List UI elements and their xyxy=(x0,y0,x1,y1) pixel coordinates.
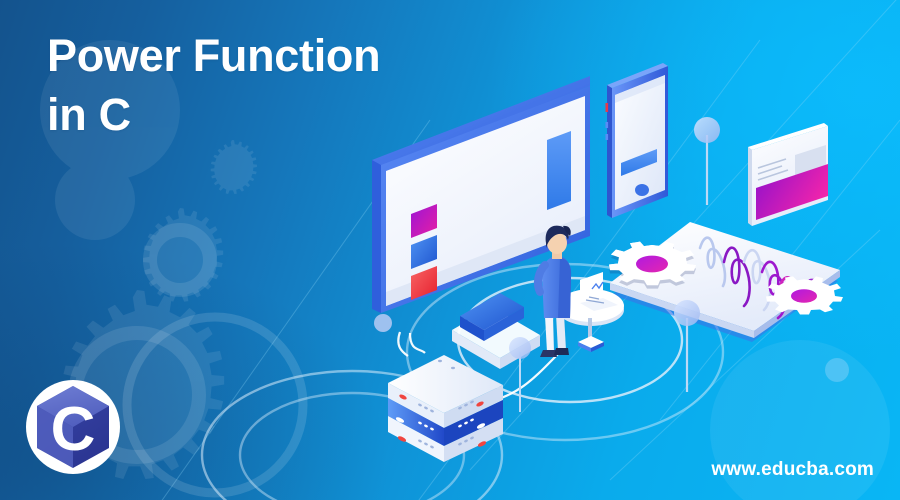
pin-marker-2 xyxy=(674,300,700,392)
banner-root: Power Function in C xyxy=(0,0,900,500)
pin-marker xyxy=(694,117,720,205)
c-logo: C xyxy=(22,376,124,478)
site-url: www.educba.com xyxy=(711,459,874,481)
server-stack xyxy=(388,355,503,462)
dot-marker xyxy=(374,314,392,332)
phone xyxy=(606,63,669,218)
pin-marker-3 xyxy=(509,337,531,412)
dot-marker-2 xyxy=(825,358,849,382)
card xyxy=(748,123,828,226)
logo-letter: C xyxy=(51,395,96,464)
hero-illustration xyxy=(0,0,900,500)
